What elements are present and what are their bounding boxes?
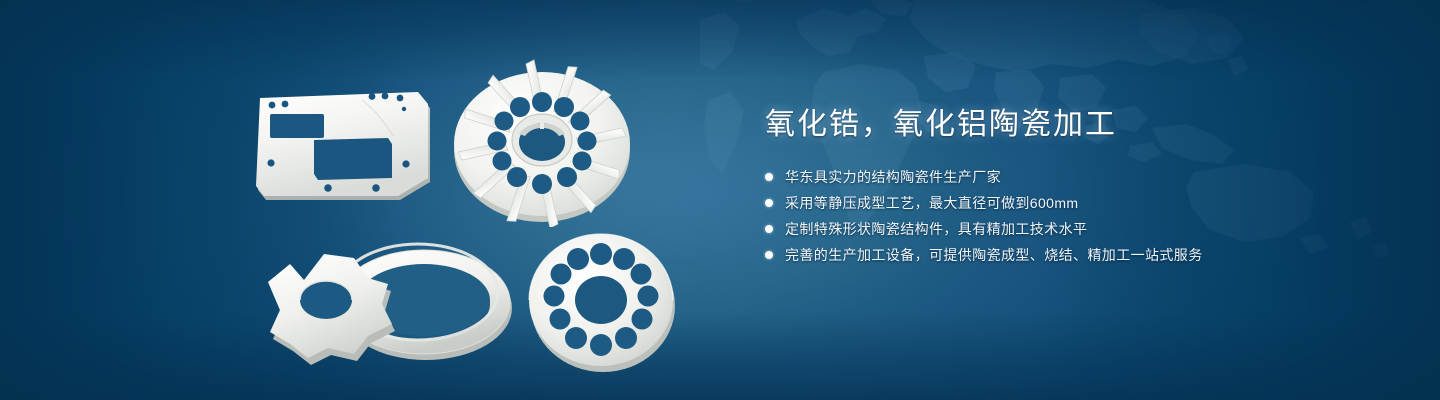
ceramic-plate-part bbox=[252, 78, 438, 206]
page-title: 氧化锆，氧化铝陶瓷加工 bbox=[765, 106, 1365, 144]
ceramic-impeller-part bbox=[447, 52, 637, 227]
list-item: 定制特殊形状陶瓷结构件，具有精加工技术水平 bbox=[765, 218, 1365, 240]
list-item: 华东具实力的结构陶瓷件生产厂家 bbox=[765, 166, 1365, 188]
list-item-label: 采用等静压成型工艺，最大直径可做到600mm bbox=[785, 193, 1078, 213]
bullet-dot-icon bbox=[765, 225, 773, 233]
list-item: 完善的生产加工设备，可提供陶瓷成型、烧结、精加工一站式服务 bbox=[765, 244, 1365, 266]
list-item-label: 完善的生产加工设备，可提供陶瓷成型、烧结、精加工一站式服务 bbox=[785, 245, 1203, 265]
ceramic-cross-and-ring-part bbox=[252, 228, 524, 368]
bullet-dot-icon bbox=[765, 251, 773, 259]
promo-banner: 氧化锆，氧化铝陶瓷加工 华东具实力的结构陶瓷件生产厂家 采用等静压成型工艺，最大… bbox=[0, 0, 1440, 400]
bullet-dot-icon bbox=[765, 199, 773, 207]
feature-list: 华东具实力的结构陶瓷件生产厂家 采用等静压成型工艺，最大直径可做到600mm 定… bbox=[765, 166, 1365, 266]
bullet-dot-icon bbox=[765, 173, 773, 181]
list-item-label: 华东具实力的结构陶瓷件生产厂家 bbox=[785, 167, 1001, 187]
marketing-copy: 氧化锆，氧化铝陶瓷加工 华东具实力的结构陶瓷件生产厂家 采用等静压成型工艺，最大… bbox=[765, 106, 1365, 270]
list-item: 采用等静压成型工艺，最大直径可做到600mm bbox=[765, 192, 1365, 214]
list-item-label: 定制特殊形状陶瓷结构件，具有精加工技术水平 bbox=[785, 219, 1087, 239]
ceramic-perforated-disc-part bbox=[522, 228, 680, 372]
product-photo-group bbox=[0, 0, 760, 400]
